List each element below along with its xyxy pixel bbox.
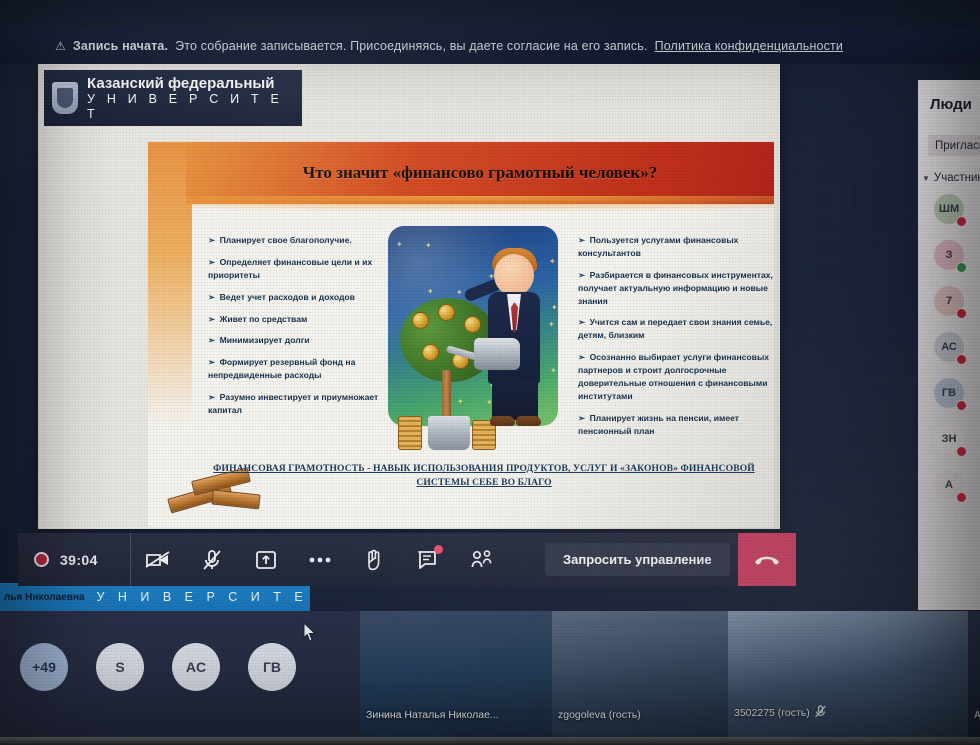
recording-banner-text: Это собрание записывается. Присоединяясь…: [175, 39, 647, 53]
slide-bullet-text: Ведет учет расходов и доходов: [217, 292, 355, 302]
money-tree-trunk: [442, 370, 451, 422]
flower-pot: [428, 416, 470, 450]
meeting-control-toolbar[interactable]: 39:04 Запросить управление: [18, 533, 796, 586]
meeting-timer: 39:04: [60, 552, 98, 568]
muted-microphone-icon: [956, 354, 967, 365]
muted-microphone-icon: [956, 492, 967, 503]
video-tile[interactable]: Зинина Наталья Николае...: [360, 611, 552, 745]
participant-avatar[interactable]: AC: [172, 643, 220, 691]
slide-title-band: Что значит «финансово грамотный человек»…: [186, 142, 774, 204]
slide-bullet: ➢ Разумно инвестирует и приумножает капи…: [208, 391, 386, 417]
tree-coin: [438, 304, 455, 321]
participant-row[interactable]: А: [918, 470, 980, 516]
bullet-arrow-icon: ➢: [578, 270, 585, 280]
monitor-bezel: [0, 737, 980, 745]
slide-bullet: ➢ Осознанно выбирает услуги финансовых п…: [578, 351, 780, 403]
tree-coin: [412, 312, 429, 329]
presentation-slide: Что значит «финансово грамотный человек»…: [148, 142, 774, 527]
privacy-policy-link[interactable]: Политика конфиденциальности: [655, 39, 843, 53]
boy-head: [494, 254, 534, 296]
slide-bullet: ➢ Разбирается в финансовых инструментах,…: [578, 269, 780, 308]
decorative-star-icon: ✦: [548, 320, 555, 329]
chat-icon[interactable]: [401, 533, 455, 586]
watering-can: [474, 338, 520, 370]
bullet-arrow-icon: ➢: [208, 292, 215, 302]
participant-row[interactable]: 7: [918, 286, 980, 332]
slide-bullet-text: Разбирается в финансовых инструментах, п…: [578, 270, 773, 306]
video-tile[interactable]: 3502275 (гость): [728, 611, 968, 745]
participant-avatar[interactable]: +49: [20, 643, 68, 691]
boy-legs: [492, 380, 538, 420]
recording-dot-icon: [34, 552, 49, 567]
participant-row[interactable]: ЗН: [918, 424, 980, 470]
slide-bullet-text: Планирует свое благополучие.: [217, 235, 352, 245]
decorative-star-icon: ✦: [425, 241, 432, 250]
gold-bar: [211, 490, 260, 510]
taskbar-name-fragment: лья Николаевна: [0, 592, 84, 603]
chevron-down-icon: ▼: [922, 174, 930, 183]
slide-bullet: ➢ Формирует резервный фонд на непредвиде…: [208, 356, 386, 382]
slide-bullet: ➢ Ведет учет расходов и доходов: [208, 291, 386, 304]
people-icon[interactable]: [455, 533, 509, 586]
shared-content-stage[interactable]: Казанский федеральный У Н И В Е Р С И Т …: [38, 64, 780, 529]
video-tiles: Зинина Наталья Николае... zgogoleva (гос…: [360, 611, 980, 745]
slide-bullet-text: Определяет финансовые цели и их приорите…: [208, 257, 372, 280]
bullet-arrow-icon: ➢: [578, 317, 585, 327]
video-tile-label: 3502275 (гость): [734, 707, 810, 719]
video-tile-label: Зинина Наталья Николае...: [366, 709, 499, 721]
slide-bullet: ➢ Живет по средствам: [208, 313, 386, 326]
participant-row[interactable]: ШМ: [918, 194, 980, 240]
participants-section-label: Участники: [934, 172, 980, 184]
bullet-arrow-icon: ➢: [578, 413, 585, 423]
muted-microphone-icon: [815, 705, 826, 721]
decorative-star-icon: ✦: [549, 257, 556, 266]
hangup-button[interactable]: [738, 533, 796, 586]
slide-bullet: ➢ Учится сам и передает свои знания семь…: [578, 316, 780, 342]
bullet-arrow-icon: ➢: [578, 352, 585, 362]
participant-avatar[interactable]: S: [96, 643, 144, 691]
recording-banner: ⚠ Запись начата. Это собрание записывает…: [0, 28, 980, 64]
slide-left-bullets: ➢ Планирует свое благополучие.➢ Определя…: [208, 234, 386, 426]
people-panel-title: Люди: [918, 80, 980, 113]
bullet-arrow-icon: ➢: [208, 314, 215, 324]
slide-bullet-text: Формирует резервный фонд на непредвиденн…: [208, 357, 355, 380]
bullet-arrow-icon: ➢: [208, 357, 215, 367]
brand-line-1: Казанский федеральный: [87, 75, 302, 92]
decorative-star-icon: ✦: [457, 397, 464, 406]
slide-bullet-text: Разумно инвестирует и приумножает капита…: [208, 392, 378, 415]
raise-hand-icon[interactable]: [347, 533, 401, 586]
tree-coin: [422, 344, 439, 361]
bullet-arrow-icon: ➢: [578, 235, 585, 245]
muted-microphone-icon: [956, 446, 967, 457]
recording-banner-bold: Запись начата.: [73, 39, 168, 53]
video-tile-label: A: [974, 709, 980, 721]
camera-off-icon[interactable]: [131, 533, 185, 586]
slide-footer-caption: ФИНАНСОВАЯ ГРАМОТНОСТЬ - НАВЫК ИСПОЛЬЗОВ…: [204, 462, 764, 490]
mouse-pointer: [303, 622, 317, 647]
slide-bullet: ➢ Определяет финансовые цели и их приори…: [208, 256, 386, 282]
microphone-off-icon[interactable]: [185, 533, 239, 586]
brand-line-2: У Н И В Е Р С И Т Е Т: [87, 92, 302, 121]
participant-row[interactable]: З: [918, 240, 980, 286]
slide-bullet-text: Учится сам и передает свои знания семье,…: [578, 317, 772, 340]
participants-list: ШМЗ7АСГВЗНА: [918, 194, 980, 516]
people-panel[interactable]: Люди Пригласить ▼ Участники ШМЗ7АСГВЗНА: [918, 80, 980, 610]
invite-button[interactable]: Пригласить: [928, 135, 980, 156]
recording-status: 39:04: [18, 552, 130, 568]
slide-title: Что значит «финансово грамотный человек»…: [303, 163, 657, 183]
participant-video-strip: +49SACГВ Зинина Наталья Николае... zgogo…: [0, 611, 980, 745]
slide-bullet-text: Минимизирует долги: [217, 335, 309, 345]
slide-bullet: ➢ Планирует жизнь на пенсии, имеет пенси…: [578, 412, 780, 438]
muted-microphone-icon: [956, 216, 967, 227]
university-crest-icon: [52, 82, 78, 114]
muted-microphone-icon: [956, 400, 967, 411]
bullet-arrow-icon: ➢: [208, 235, 215, 245]
video-tile[interactable]: zgogoleva (гость): [552, 611, 728, 745]
monitor-photo-scene: ⚠ Запись начата. Это собрание записывает…: [0, 0, 980, 745]
video-tile-label: zgogoleva (гость): [558, 709, 641, 721]
university-brand-header: Казанский федеральный У Н И В Е Р С И Т …: [44, 70, 302, 126]
tree-coin: [464, 316, 481, 333]
boy-shoe: [490, 416, 515, 426]
muted-microphone-icon: [956, 308, 967, 319]
active-status-icon: [956, 262, 967, 273]
request-control-button[interactable]: Запросить управление: [545, 543, 730, 576]
chat-unread-badge: [434, 545, 443, 554]
participant-row[interactable]: ГВ: [918, 378, 980, 424]
slide-right-bullets: ➢ Пользуется услугами финансовых консуль…: [578, 234, 780, 447]
share-screen-icon[interactable]: [239, 533, 293, 586]
slide-bullet-text: Планирует жизнь на пенсии, имеет пенсион…: [578, 413, 739, 436]
bullet-arrow-icon: ➢: [208, 335, 215, 345]
more-options-icon[interactable]: [293, 533, 347, 586]
video-tile[interactable]: A: [968, 611, 980, 745]
decorative-star-icon: ✦: [427, 287, 434, 296]
boy-watering-money-tree-illustration: ✦✦✦✦✦✦✦✦✦✦✦✦✦✦✦✦✦✦✦✦✦✦: [376, 220, 572, 456]
participant-row[interactable]: АС: [918, 332, 980, 378]
boy-shoe: [516, 416, 541, 426]
bullet-arrow-icon: ➢: [208, 257, 215, 267]
bullet-arrow-icon: ➢: [208, 392, 215, 402]
decorative-star-icon: ✦: [456, 288, 463, 297]
decorative-star-icon: ✦: [551, 303, 558, 312]
decorative-star-icon: ✦: [396, 240, 403, 249]
taskbar-university-text: У Н И В Е Р С И Т Е Т: [84, 590, 310, 604]
slide-bullet: ➢ Планирует свое благополучие.: [208, 234, 386, 247]
slide-bullet-text: Осознанно выбирает услуги финансовых пар…: [578, 352, 769, 401]
slide-bullet-text: Живет по средствам: [217, 314, 307, 324]
warning-triangle-icon: ⚠: [55, 39, 66, 53]
windows-taskbar-strip[interactable]: лья Николаевна У Н И В Е Р С И Т Е Т: [0, 583, 310, 611]
participants-section-header[interactable]: ▼ Участники: [922, 172, 980, 184]
slide-bullet: ➢ Пользуется услугами финансовых консуль…: [578, 234, 780, 260]
decorative-star-icon: ✦: [550, 366, 557, 375]
slide-bullet-text: Пользуется услугами финансовых консульта…: [578, 235, 738, 258]
participant-avatar[interactable]: ГВ: [248, 643, 296, 691]
coin-stack: [398, 416, 422, 450]
slide-bullet: ➢ Минимизирует долги: [208, 334, 386, 347]
